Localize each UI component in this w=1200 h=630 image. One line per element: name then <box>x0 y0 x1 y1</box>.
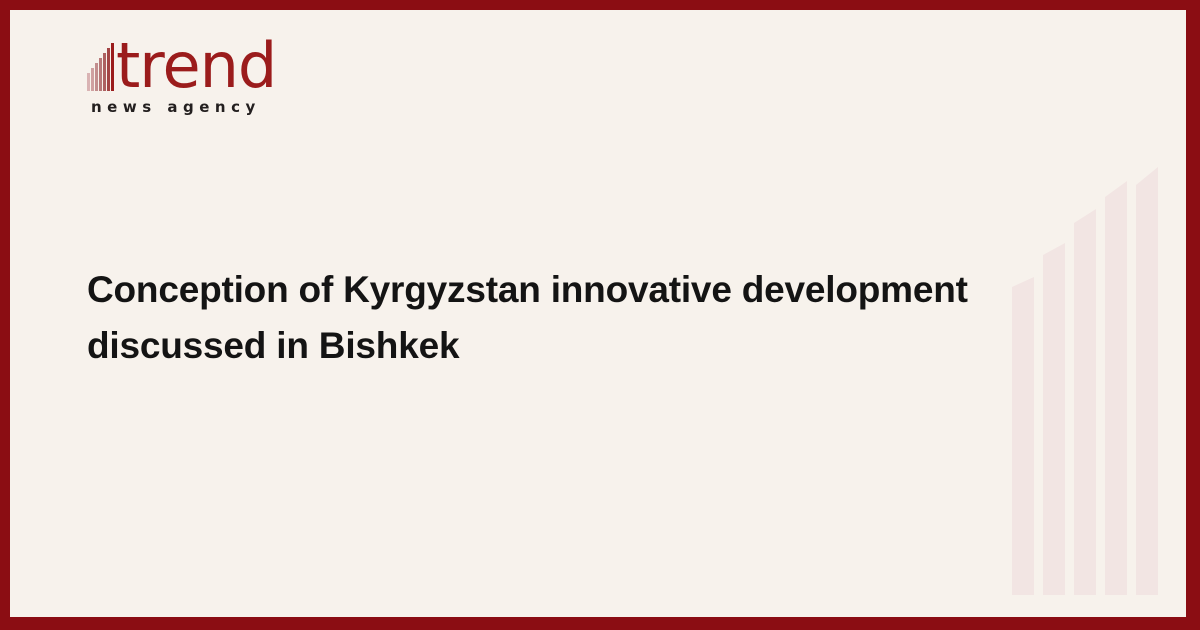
news-share-card: trend news agency Conception of Kyrgyzst… <box>0 0 1200 630</box>
logo-top-row: trend <box>87 36 276 92</box>
mark-bar-5 <box>103 53 106 91</box>
mark-bar-3 <box>95 63 98 91</box>
mark-bar-2 <box>91 68 94 91</box>
watermark-bar-2 <box>1043 243 1065 595</box>
headline-text: Conception of Kyrgyzstan innovative deve… <box>87 262 997 374</box>
stepped-bars-mark-icon <box>87 43 114 92</box>
mark-bar-1 <box>87 73 90 91</box>
trend-news-agency-logo[interactable]: trend news agency <box>87 36 276 116</box>
card-border-left <box>0 0 10 630</box>
logo-wordmark: trend <box>116 41 276 92</box>
watermark-bar-3 <box>1074 209 1096 595</box>
logo-tagline: news agency <box>91 98 276 116</box>
card-border-right <box>1186 0 1200 630</box>
watermark-stepped-bars <box>1012 165 1180 595</box>
watermark-bar-1 <box>1012 277 1034 595</box>
card-border-bottom <box>0 617 1200 630</box>
mark-bar-4 <box>99 58 102 91</box>
card-border-top <box>0 0 1200 10</box>
watermark-bar-5 <box>1136 167 1158 595</box>
mark-bar-7 <box>111 43 114 91</box>
watermark-bar-4 <box>1105 181 1127 595</box>
mark-bar-6 <box>107 48 110 91</box>
